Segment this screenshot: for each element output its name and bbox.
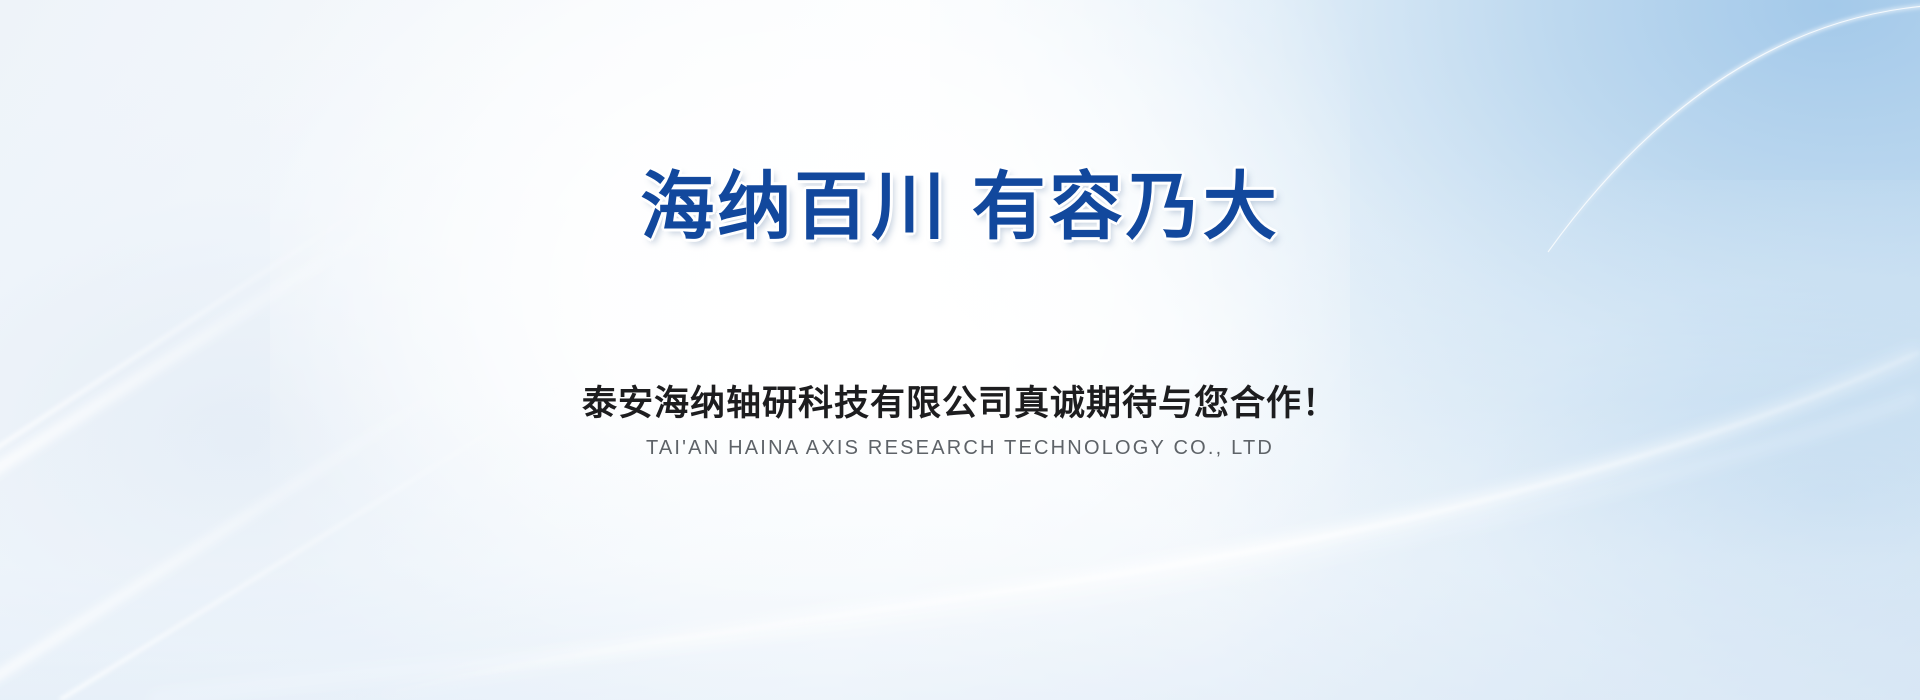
- banner-copy-block: 海纳百川 有容乃大 泰安海纳轴研科技有限公司真诚期待与您合作！ TAI'AN H…: [0, 0, 1920, 700]
- banner-subtitle-chinese: 泰安海纳轴研科技有限公司真诚期待与您合作！: [0, 380, 1920, 428]
- hero-banner: 海纳百川 有容乃大 泰安海纳轴研科技有限公司真诚期待与您合作！ TAI'AN H…: [0, 0, 1920, 700]
- banner-subtitle-english: TAI'AN HAINA AXIS RESEARCH TECHNOLOGY CO…: [0, 434, 1920, 462]
- banner-headline: 海纳百川 有容乃大: [0, 166, 1920, 248]
